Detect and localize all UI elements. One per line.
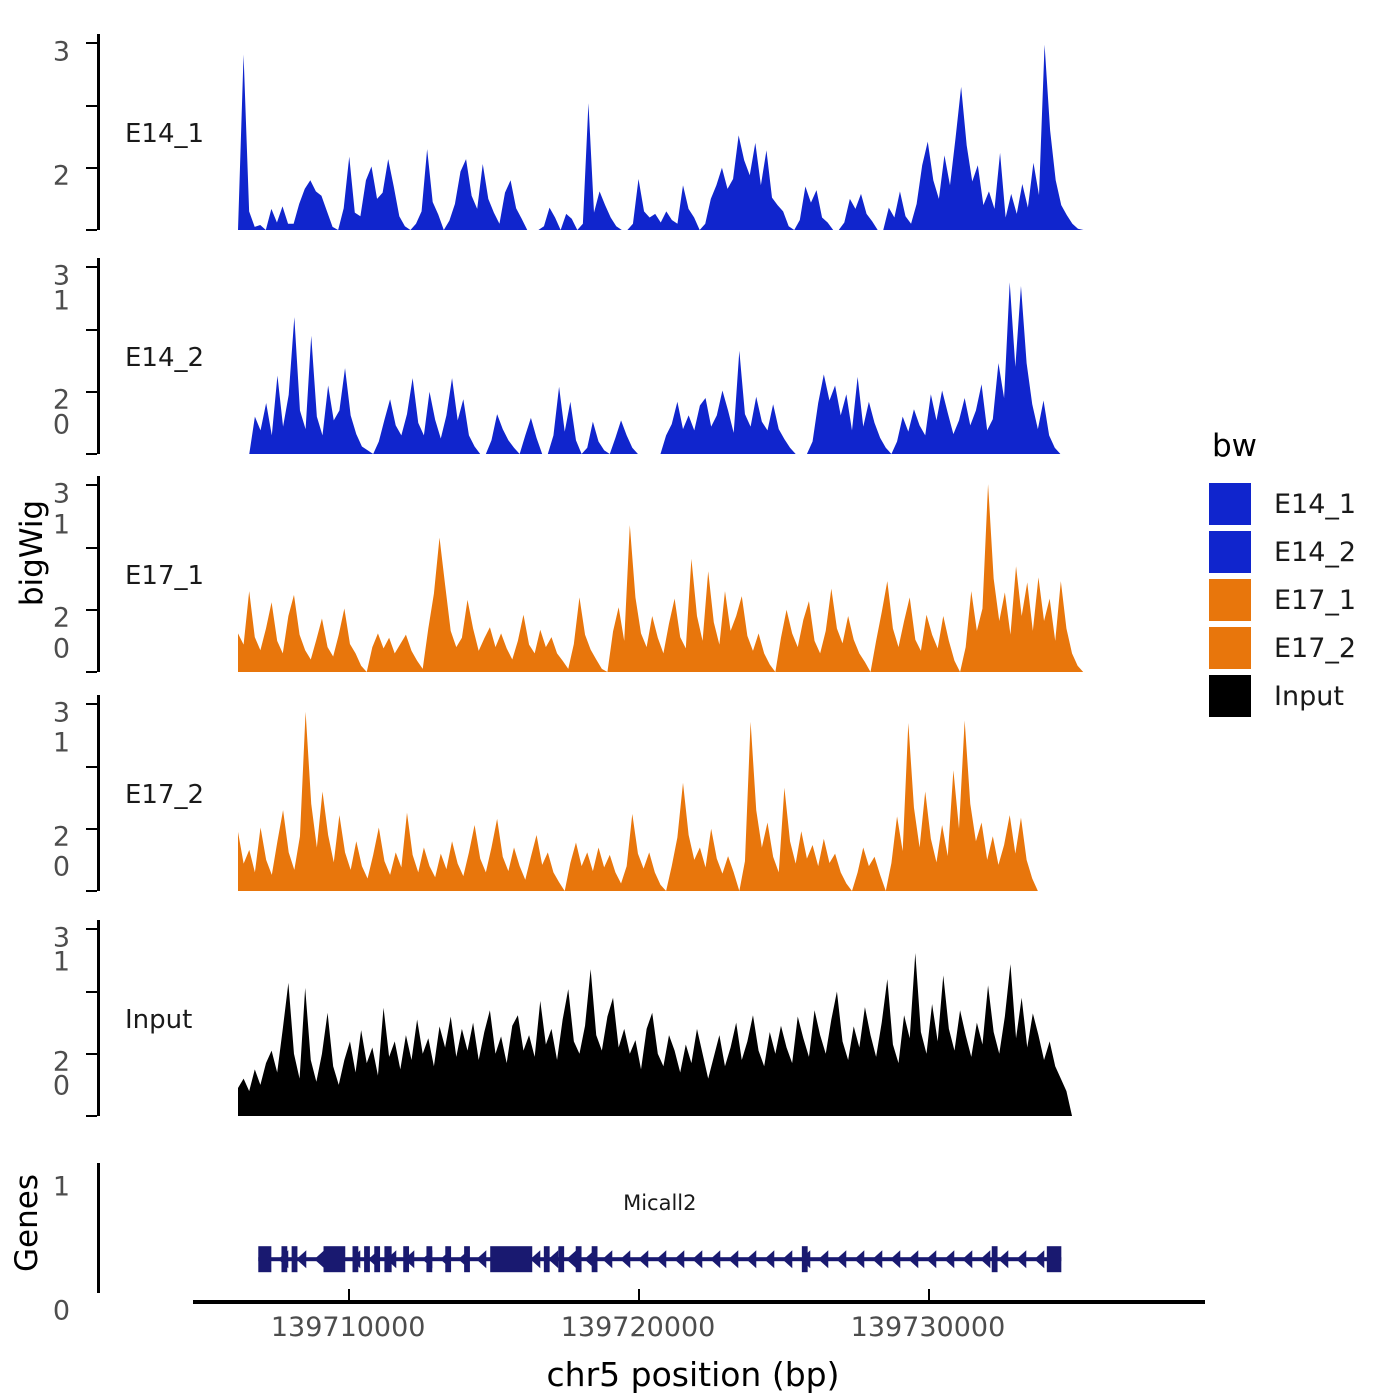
x-axis-line <box>193 1300 1205 1304</box>
y-tick: 1 <box>86 167 97 169</box>
y-tick-label: 3 <box>53 699 70 726</box>
y-tick: 3 <box>86 42 97 44</box>
legend-label: E17_1 <box>1274 585 1356 616</box>
legend-item-e17_2[interactable]: E17_2 <box>1208 624 1398 672</box>
y-tick-label: 3 <box>53 262 70 289</box>
genome-browser-figure: bigWig Genes 0123E14_10123E14_20123E17_1… <box>0 0 1400 1400</box>
legend-items: E14_1E14_2E17_1E17_2Input <box>1208 480 1398 720</box>
y-tick: 3 <box>86 266 97 268</box>
y-tick: 0 <box>86 453 97 455</box>
genes-panel: Micall2 <box>97 1163 1140 1293</box>
x-axis-title: chr5 position (bp) <box>547 1355 840 1394</box>
y-tick: 0 <box>86 890 97 892</box>
legend-item-e17_1[interactable]: E17_1 <box>1208 576 1398 624</box>
y-tick: 1 <box>86 1053 97 1055</box>
signal-track-e17_2[interactable] <box>97 695 1140 891</box>
legend-label: E14_2 <box>1274 537 1356 568</box>
x-tick <box>348 1289 350 1300</box>
y-tick-label: 3 <box>53 38 70 65</box>
y-tick-label: 1 <box>53 1173 70 1200</box>
y-tick: 0 <box>86 671 97 673</box>
y-tick-label: 2 <box>53 605 70 632</box>
y-tick-label: 0 <box>53 1298 70 1325</box>
legend-color-swatch <box>1208 626 1252 670</box>
legend-title: bw <box>1212 428 1398 464</box>
y-tick: 0 <box>86 1115 97 1117</box>
x-tick-label: 139730000 <box>851 1312 1006 1343</box>
y-tick-label: 1 <box>53 729 70 756</box>
gene-model-track[interactable] <box>97 1163 1140 1293</box>
y-tick: 1 <box>86 609 97 611</box>
y-tick: 2 <box>86 766 97 768</box>
y-tick-label: 1 <box>53 511 70 538</box>
legend: bw E14_1E14_2E17_1E17_2Input <box>1208 428 1398 720</box>
legend-item-e14_1[interactable]: E14_1 <box>1208 480 1398 528</box>
x-tick-label: 139710000 <box>271 1312 426 1343</box>
y-tick: 0 <box>86 229 97 231</box>
legend-color-swatch <box>1208 578 1252 622</box>
y-tick-label: 2 <box>53 163 70 190</box>
x-tick <box>928 1289 930 1300</box>
bigwig-panel-e17_2: 0123E17_2 <box>97 695 1140 891</box>
y-tick: 2 <box>86 105 97 107</box>
y-tick: 2 <box>86 329 97 331</box>
x-tick <box>638 1289 640 1300</box>
signal-track-input[interactable] <box>97 920 1140 1116</box>
y-tick-label: 2 <box>53 824 70 851</box>
y-tick: 3 <box>86 928 97 930</box>
y-tick: 3 <box>86 484 97 486</box>
y-tick: 3 <box>86 703 97 705</box>
legend-color-swatch <box>1208 674 1252 718</box>
genes-axis-title: Genes <box>9 1158 45 1288</box>
y-tick-label: 2 <box>53 387 70 414</box>
legend-item-input[interactable]: Input <box>1208 672 1398 720</box>
y-tick: 2 <box>86 991 97 993</box>
bigwig-panel-e17_1: 0123E17_1 <box>97 476 1140 672</box>
x-tick-label: 139720000 <box>561 1312 716 1343</box>
gene-name-label: Micall2 <box>623 1191 696 1215</box>
legend-color-swatch <box>1208 482 1252 526</box>
legend-label: Input <box>1274 681 1344 712</box>
bigwig-panel-e14_1: 0123E14_1 <box>97 34 1140 230</box>
bigwig-panel-e14_2: 0123E14_2 <box>97 258 1140 454</box>
y-tick-label: 0 <box>53 854 70 881</box>
y-tick: 1 <box>86 391 97 393</box>
y-tick-label: 3 <box>53 924 70 951</box>
bigwig-panel-input: 0123Input <box>97 920 1140 1116</box>
legend-label: E14_1 <box>1274 489 1356 520</box>
signal-track-e14_1[interactable] <box>97 34 1140 230</box>
bigwig-axis-title: bigWig <box>14 473 50 633</box>
y-tick: 1 <box>86 828 97 830</box>
y-tick: 2 <box>86 547 97 549</box>
legend-label: E17_2 <box>1274 633 1356 664</box>
y-tick-label: 2 <box>53 1049 70 1076</box>
signal-track-e17_1[interactable] <box>97 476 1140 672</box>
y-tick-label: 0 <box>53 636 70 663</box>
legend-color-swatch <box>1208 530 1252 574</box>
y-tick-label: 3 <box>53 480 70 507</box>
signal-track-e14_2[interactable] <box>97 258 1140 454</box>
legend-item-e14_2[interactable]: E14_2 <box>1208 528 1398 576</box>
